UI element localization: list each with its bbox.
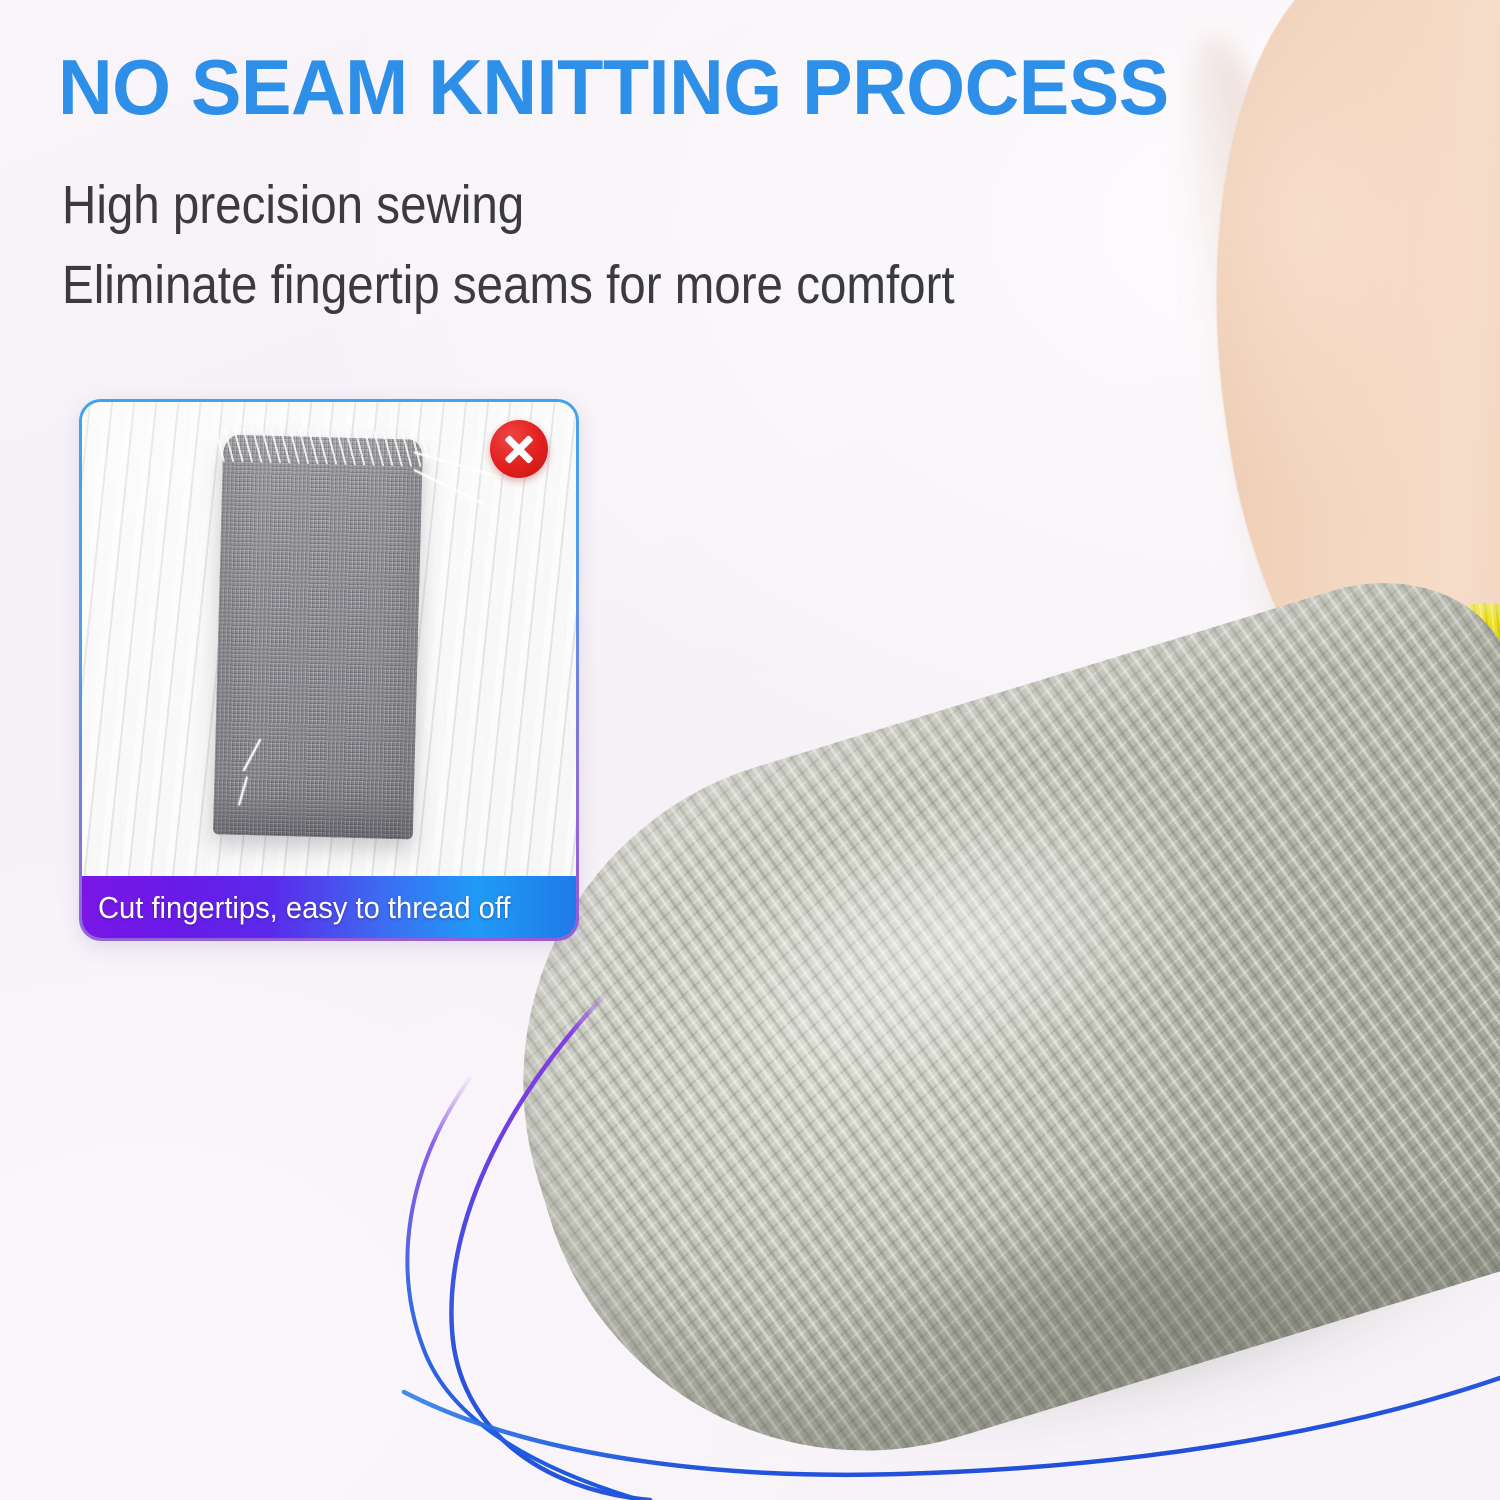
caption-label: Cut fingertips, easy to thread off <box>98 892 511 923</box>
comparison-card-body: Cut fingertips, easy to thread off <box>82 402 576 938</box>
caption-bar: Cut fingertips, easy to thread off <box>82 876 576 938</box>
marketing-image: NO SEAM KNITTING PROCESS High precision … <box>0 0 1500 1500</box>
comparison-photo <box>82 402 576 876</box>
subheading-line-2: Eliminate fingertip seams for more comfo… <box>62 258 955 312</box>
loose-thread-2 <box>414 469 485 505</box>
subheading-line-1: High precision sewing <box>62 178 524 232</box>
frayed-edge <box>214 427 429 467</box>
page-title: NO SEAM KNITTING PROCESS <box>58 48 1169 126</box>
comparison-card: Cut fingertips, easy to thread off <box>79 399 579 941</box>
red-x-circle-icon <box>490 420 548 478</box>
